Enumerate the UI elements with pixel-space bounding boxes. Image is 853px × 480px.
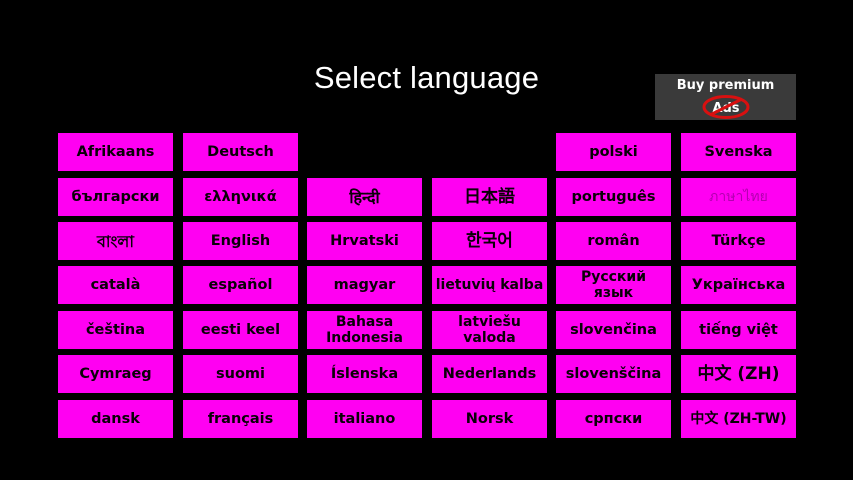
- language-button[interactable]: српски: [556, 400, 671, 438]
- language-label: român: [559, 233, 668, 250]
- language-button[interactable]: 日本語: [432, 178, 547, 216]
- language-button[interactable]: български: [58, 178, 173, 216]
- language-label: বাংলা: [61, 233, 170, 250]
- language-button[interactable]: Afrikaans: [58, 133, 173, 171]
- language-button[interactable]: português: [556, 178, 671, 216]
- language-label: Bahasa Indonesia: [310, 314, 419, 346]
- language-button[interactable]: čeština: [58, 311, 173, 349]
- language-button[interactable]: ภาษาไทย: [681, 178, 796, 216]
- language-label: 日本語: [435, 189, 544, 206]
- language-label: français: [186, 411, 295, 428]
- language-label: 中文 (ZH-TW): [684, 411, 793, 427]
- app-screen: Select language Buy premium Ads Afrikaan…: [0, 0, 853, 480]
- language-button[interactable]: Svenska: [681, 133, 796, 171]
- language-button[interactable]: slovenčina: [556, 311, 671, 349]
- language-button[interactable]: român: [556, 222, 671, 260]
- language-label: ภาษาไทย: [684, 189, 793, 206]
- language-button[interactable]: español: [183, 266, 298, 304]
- language-label: Hrvatski: [310, 233, 419, 250]
- language-button[interactable]: lietuvių kalba: [432, 266, 547, 304]
- language-label: català: [61, 277, 170, 294]
- language-label: slovenčina: [559, 322, 668, 339]
- language-button[interactable]: Cymraeg: [58, 355, 173, 393]
- language-label: Русский язык: [559, 269, 668, 301]
- language-label: हिन्दी: [310, 189, 419, 206]
- language-label: suomi: [186, 366, 295, 383]
- language-button[interactable]: 한국어: [432, 222, 547, 260]
- language-label: Türkçe: [684, 233, 793, 250]
- language-button[interactable]: Íslenska: [307, 355, 422, 393]
- language-button[interactable]: Türkçe: [681, 222, 796, 260]
- language-label: lietuvių kalba: [435, 277, 544, 293]
- language-label: português: [559, 189, 668, 206]
- language-button[interactable]: Nederlands: [432, 355, 547, 393]
- language-label: italiano: [310, 411, 419, 428]
- language-label: Cymraeg: [61, 366, 170, 383]
- language-button[interactable]: Deutsch: [183, 133, 298, 171]
- language-label: български: [61, 189, 170, 206]
- language-button[interactable]: eesti keel: [183, 311, 298, 349]
- language-label: magyar: [310, 277, 419, 294]
- language-label: latviešu valoda: [435, 314, 544, 346]
- language-button[interactable]: italiano: [307, 400, 422, 438]
- language-button[interactable]: 中文 (ZH): [681, 355, 796, 393]
- language-label: slovenščina: [559, 366, 668, 383]
- language-button[interactable]: हिन्दी: [307, 178, 422, 216]
- language-label: Afrikaans: [61, 144, 170, 161]
- language-button[interactable]: ελληνικά: [183, 178, 298, 216]
- language-button[interactable]: latviešu valoda: [432, 311, 547, 349]
- language-button[interactable]: Русский язык: [556, 266, 671, 304]
- language-label: Українська: [684, 277, 793, 294]
- language-label: eesti keel: [186, 322, 295, 339]
- language-label: English: [186, 233, 295, 250]
- language-label: polski: [559, 144, 668, 161]
- language-label: 한국어: [435, 233, 544, 250]
- language-grid: AfrikaansDeutschpolskiSvenskaбългарскиελ…: [0, 0, 853, 480]
- language-button[interactable]: dansk: [58, 400, 173, 438]
- language-label: dansk: [61, 411, 170, 428]
- language-label: Íslenska: [310, 366, 419, 383]
- language-label: Nederlands: [435, 366, 544, 383]
- language-button[interactable]: Bahasa Indonesia: [307, 311, 422, 349]
- language-button[interactable]: polski: [556, 133, 671, 171]
- language-label: tiếng việt: [684, 322, 793, 339]
- language-button[interactable]: Українська: [681, 266, 796, 304]
- language-label: 中文 (ZH): [684, 366, 793, 383]
- language-button[interactable]: français: [183, 400, 298, 438]
- language-button[interactable]: Hrvatski: [307, 222, 422, 260]
- language-button[interactable]: 中文 (ZH-TW): [681, 400, 796, 438]
- language-label: čeština: [61, 322, 170, 339]
- language-label: Svenska: [684, 144, 793, 161]
- language-label: español: [186, 277, 295, 294]
- language-button[interactable]: català: [58, 266, 173, 304]
- language-label: Norsk: [435, 411, 544, 428]
- language-button[interactable]: slovenščina: [556, 355, 671, 393]
- language-button[interactable]: tiếng việt: [681, 311, 796, 349]
- language-button[interactable]: English: [183, 222, 298, 260]
- language-button[interactable]: Norsk: [432, 400, 547, 438]
- language-label: ελληνικά: [186, 189, 295, 206]
- language-button[interactable]: suomi: [183, 355, 298, 393]
- language-button[interactable]: বাংলা: [58, 222, 173, 260]
- language-button[interactable]: magyar: [307, 266, 422, 304]
- language-label: српски: [559, 411, 668, 428]
- language-label: Deutsch: [186, 144, 295, 161]
